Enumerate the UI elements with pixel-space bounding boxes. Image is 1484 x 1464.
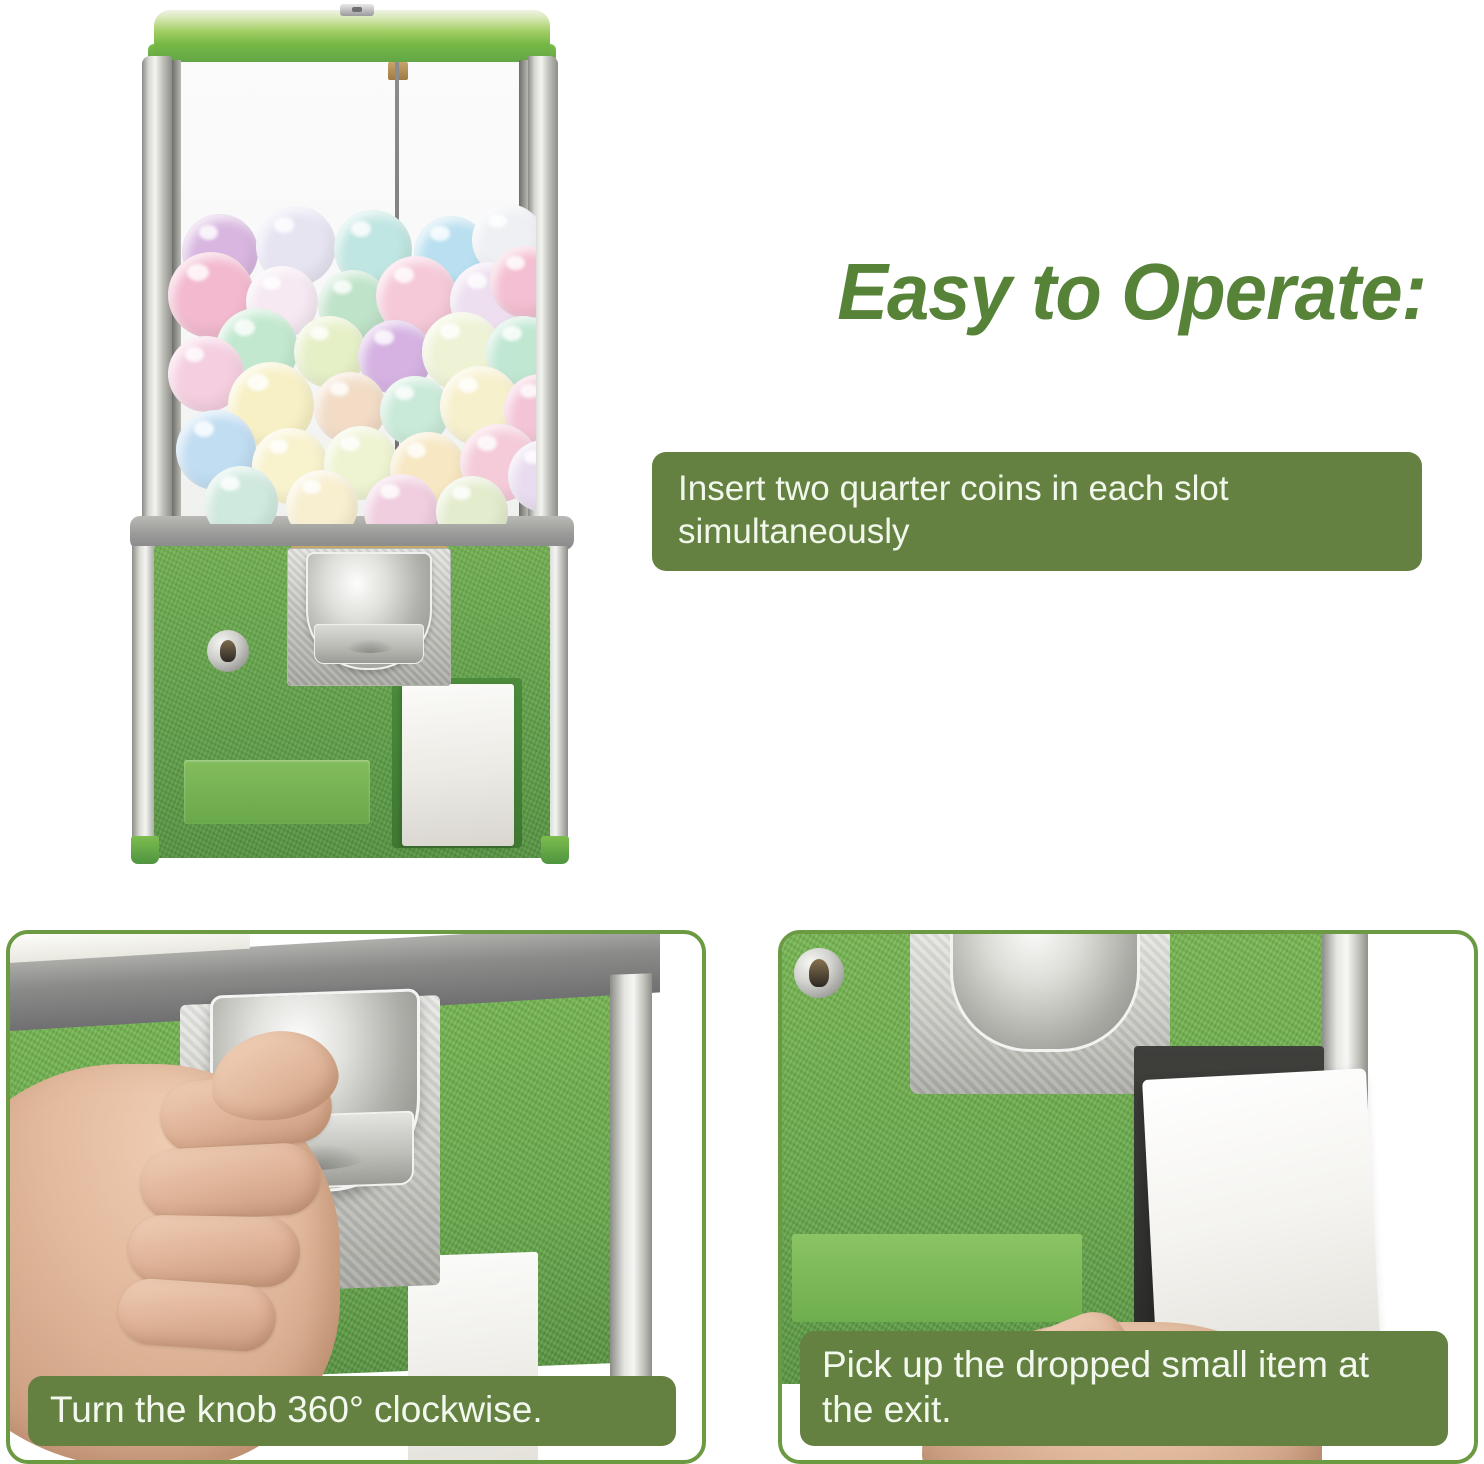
coin-knob-handle	[314, 624, 424, 664]
step-caption-pick-up-item: Pick up the dropped small item at the ex…	[800, 1331, 1448, 1446]
machine-exit-door	[402, 684, 514, 846]
key-lock-icon-closeup	[794, 948, 844, 998]
finger-middle	[138, 1141, 322, 1222]
machine-rail-closeup	[610, 973, 652, 1444]
page-title: Easy to Operate:	[704, 252, 1426, 332]
machine-lid	[154, 10, 550, 62]
machine-label-plate-closeup	[792, 1234, 1082, 1322]
step-panel-turn-knob: Turn the knob 360° clockwise.	[6, 930, 706, 1464]
step-caption-turn-knob: Turn the knob 360° clockwise.	[28, 1376, 676, 1446]
finger-ring	[127, 1215, 300, 1288]
infographic-page: Easy to Operate: Insert two quarter coin…	[0, 0, 1484, 1464]
capsule-toys-group	[168, 204, 536, 524]
machine-label-plate	[184, 760, 370, 824]
hero-caption-banner: Insert two quarter coins in each slot si…	[652, 452, 1422, 571]
key-lock-icon	[207, 630, 249, 672]
machine-foot-left	[131, 836, 159, 864]
finger-pinky	[116, 1277, 278, 1354]
step-panel-pick-up-item: Pick up the dropped small item at the ex…	[778, 930, 1478, 1464]
machine-body	[154, 546, 550, 858]
lid-lock-screw-icon	[340, 4, 374, 16]
machine-foot-right	[541, 836, 569, 864]
vending-machine-image	[108, 4, 592, 872]
hero-section: Easy to Operate: Insert two quarter coin…	[0, 0, 1484, 905]
